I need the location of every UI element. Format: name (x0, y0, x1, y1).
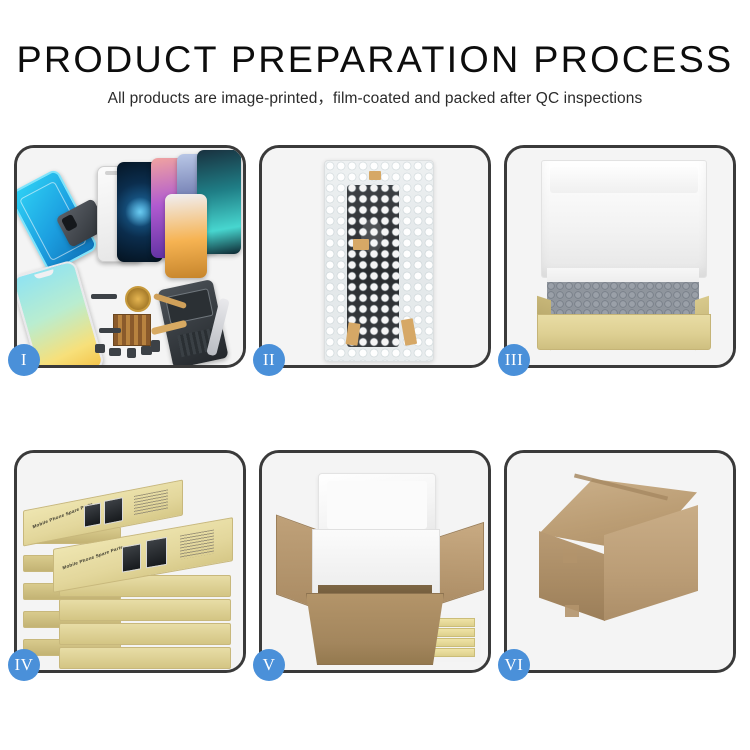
process-panel-4: Mobile Phone Spare Parts Mobile Phone Sp… (14, 450, 246, 673)
bubble-texture (325, 161, 433, 361)
box-phone-image-4 (146, 537, 167, 569)
phone-gold-screen (165, 194, 207, 278)
carton-tape-2 (565, 605, 579, 617)
process-panel-5: V (259, 450, 491, 673)
page-title: PRODUCT PREPARATION PROCESS (0, 40, 750, 80)
box-phone-image-3 (122, 543, 141, 572)
bubble-wrapped-contents (547, 282, 699, 316)
page-subtitle: All products are image-printed，film-coat… (0, 90, 750, 108)
box-label-front: Mobile Phone Spare Parts (62, 544, 123, 570)
process-panel-3: III (504, 145, 736, 368)
box-stack: Mobile Phone Spare Parts Mobile Phone Sp… (23, 471, 243, 667)
panel-1-image (17, 148, 243, 365)
box-phone-image-2 (104, 497, 123, 525)
carton-body (306, 593, 444, 665)
process-panel-grid: I II (14, 145, 736, 673)
yellow-box-front (537, 314, 711, 350)
panel-5-badge: V (253, 649, 285, 681)
panel-6-badge: VI (498, 649, 530, 681)
stacked-box-f2 (59, 599, 231, 621)
process-panel-2: II (259, 145, 491, 368)
small-part-2 (95, 344, 105, 353)
panel-4-badge: IV (8, 649, 40, 681)
bubble-wrap-bag (324, 160, 434, 362)
box-spec-text-front (180, 529, 214, 559)
speaker-coil-part (125, 286, 151, 312)
panel-4-image: Mobile Phone Spare Parts Mobile Phone Sp… (17, 453, 243, 670)
white-foam-lid (541, 160, 707, 278)
stacked-box-f4 (59, 647, 231, 669)
small-part-1 (91, 294, 117, 299)
header: PRODUCT PREPARATION PROCESS All products… (0, 0, 750, 108)
tape-piece-2 (353, 239, 369, 250)
panel-2-badge: II (253, 344, 285, 376)
box-phone-image-1 (84, 502, 101, 527)
panel-6-image (507, 453, 733, 670)
stacked-box-f3 (59, 623, 231, 645)
small-part-7 (151, 340, 160, 352)
carton-tape-1 (563, 549, 577, 563)
small-part-4 (127, 348, 136, 358)
process-panel-1: I (14, 145, 246, 368)
small-part-3 (109, 348, 121, 356)
product-preparation-infographic: PRODUCT PREPARATION PROCESS All products… (0, 0, 750, 750)
panel-1-badge: I (8, 344, 40, 376)
box-spec-text-rear (134, 489, 168, 516)
panel-3-badge: III (498, 344, 530, 376)
panel-5-image (262, 453, 488, 670)
small-part-6 (99, 328, 121, 333)
tape-piece-1 (369, 171, 381, 180)
process-panel-6: VI (504, 450, 736, 673)
panel-3-image (507, 148, 733, 365)
panel-2-image (262, 148, 488, 365)
